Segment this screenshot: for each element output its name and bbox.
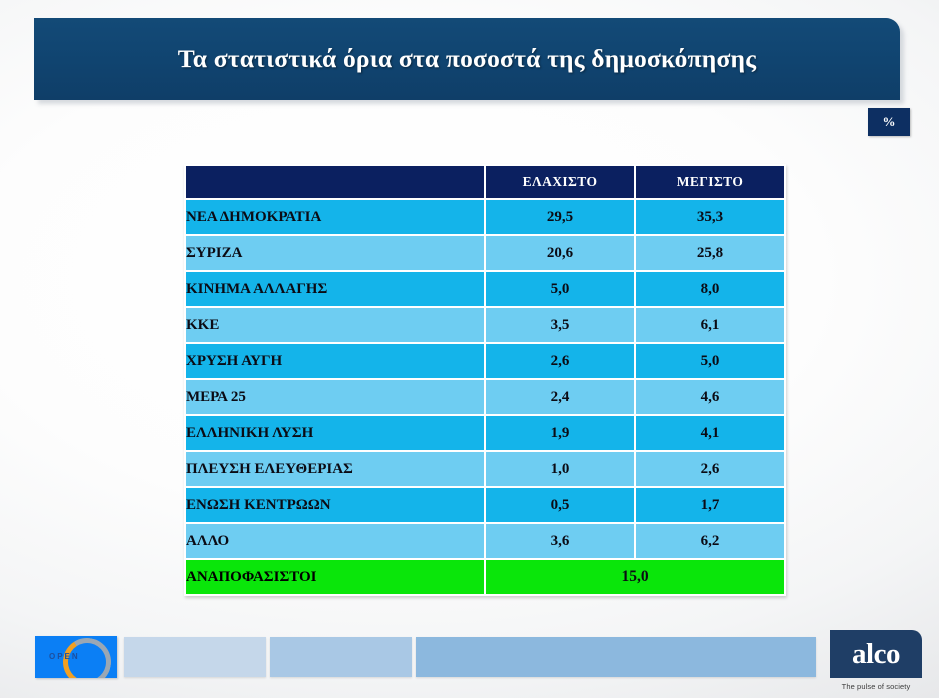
max-value: 4,1 [635,415,785,451]
max-value: 1,7 [635,487,785,523]
column-header-max: ΜΕΓΙΣΤΟ [635,165,785,199]
undecided-value: 15,0 [485,559,785,595]
max-value: 5,0 [635,343,785,379]
table-header-row: ΕΛΑΧΙΣΤΟ ΜΕΓΙΣΤΟ [185,165,785,199]
table-row: ΜΕΡΑ 25 2,4 4,6 [185,379,785,415]
max-value: 4,6 [635,379,785,415]
max-value: 2,6 [635,451,785,487]
column-header-min: ΕΛΑΧΙΣΤΟ [485,165,635,199]
table-row: ΕΝΩΣΗ ΚΕΝΤΡΩΩΝ 0,5 1,7 [185,487,785,523]
table-row: ΚΚΕ 3,5 6,1 [185,307,785,343]
table-row: ΑΛΛΟ 3,6 6,2 [185,523,785,559]
table-row: ΧΡΥΣΗ ΑΥΓΗ 2,6 5,0 [185,343,785,379]
column-header-party [185,165,485,199]
party-name: ΜΕΡΑ 25 [185,379,485,415]
footer-bar-segment-3 [416,637,816,677]
party-name: ΣΥΡΙΖΑ [185,235,485,271]
alco-logo: alco [830,630,922,678]
min-value: 5,0 [485,271,635,307]
poll-table-container: ΕΛΑΧΙΣΤΟ ΜΕΓΙΣΤΟ ΝΕΑ ΔΗΜΟΚΡΑΤΙΑ 29,5 35,… [184,164,784,596]
min-value: 0,5 [485,487,635,523]
max-value: 8,0 [635,271,785,307]
min-value: 3,5 [485,307,635,343]
title-bar: Τα στατιστικά όρια στα ποσοστά της δημοσ… [34,18,900,100]
min-value: 1,0 [485,451,635,487]
party-name: ΚΙΝΗΜΑ ΑΛΛΑΓΗΣ [185,271,485,307]
poll-table-body: ΝΕΑ ΔΗΜΟΚΡΑΤΙΑ 29,5 35,3 ΣΥΡΙΖΑ 20,6 25,… [185,199,785,595]
party-name: ΧΡΥΣΗ ΑΥΓΗ [185,343,485,379]
party-name: ΠΛΕΥΣΗ ΕΛΕΥΘΕΡΙΑΣ [185,451,485,487]
min-value: 3,6 [485,523,635,559]
footer-bar-segment-2 [270,637,412,677]
party-name: ΕΝΩΣΗ ΚΕΝΤΡΩΩΝ [185,487,485,523]
open-logo-label: OPEN [49,652,80,661]
max-value: 6,2 [635,523,785,559]
page-title: Τα στατιστικά όρια στα ποσοστά της δημοσ… [178,44,756,74]
table-row: ΣΥΡΙΖΑ 20,6 25,8 [185,235,785,271]
min-value: 29,5 [485,199,635,235]
party-name: ΑΝΑΠΟΦΑΣΙΣΤΟΙ [185,559,485,595]
party-name: ΕΛΛΗΝΙΚΗ ΛΥΣΗ [185,415,485,451]
poll-table: ΕΛΑΧΙΣΤΟ ΜΕΓΙΣΤΟ ΝΕΑ ΔΗΜΟΚΡΑΤΙΑ 29,5 35,… [184,164,786,596]
table-row: ΝΕΑ ΔΗΜΟΚΡΑΤΙΑ 29,5 35,3 [185,199,785,235]
party-name: ΝΕΑ ΔΗΜΟΚΡΑΤΙΑ [185,199,485,235]
party-name: ΚΚΕ [185,307,485,343]
table-row: ΚΙΝΗΜΑ ΑΛΛΑΓΗΣ 5,0 8,0 [185,271,785,307]
open-logo-icon: OPEN [35,636,117,678]
alco-logo-label: alco [852,640,900,669]
min-value: 2,4 [485,379,635,415]
footer: OPEN alco The pulse of society [0,636,939,678]
percent-unit-badge: % [868,108,910,136]
min-value: 20,6 [485,235,635,271]
table-row: ΠΛΕΥΣΗ ΕΛΕΥΘΕΡΙΑΣ 1,0 2,6 [185,451,785,487]
footer-bar-segment-1 [124,637,266,677]
party-name: ΑΛΛΟ [185,523,485,559]
max-value: 25,8 [635,235,785,271]
slide: Τα στατιστικά όρια στα ποσοστά της δημοσ… [0,0,939,698]
table-row: ΕΛΛΗΝΙΚΗ ΛΥΣΗ 1,9 4,1 [185,415,785,451]
min-value: 2,6 [485,343,635,379]
alco-tagline: The pulse of society [830,682,922,691]
max-value: 35,3 [635,199,785,235]
table-row-undecided: ΑΝΑΠΟΦΑΣΙΣΤΟΙ 15,0 [185,559,785,595]
min-value: 1,9 [485,415,635,451]
max-value: 6,1 [635,307,785,343]
